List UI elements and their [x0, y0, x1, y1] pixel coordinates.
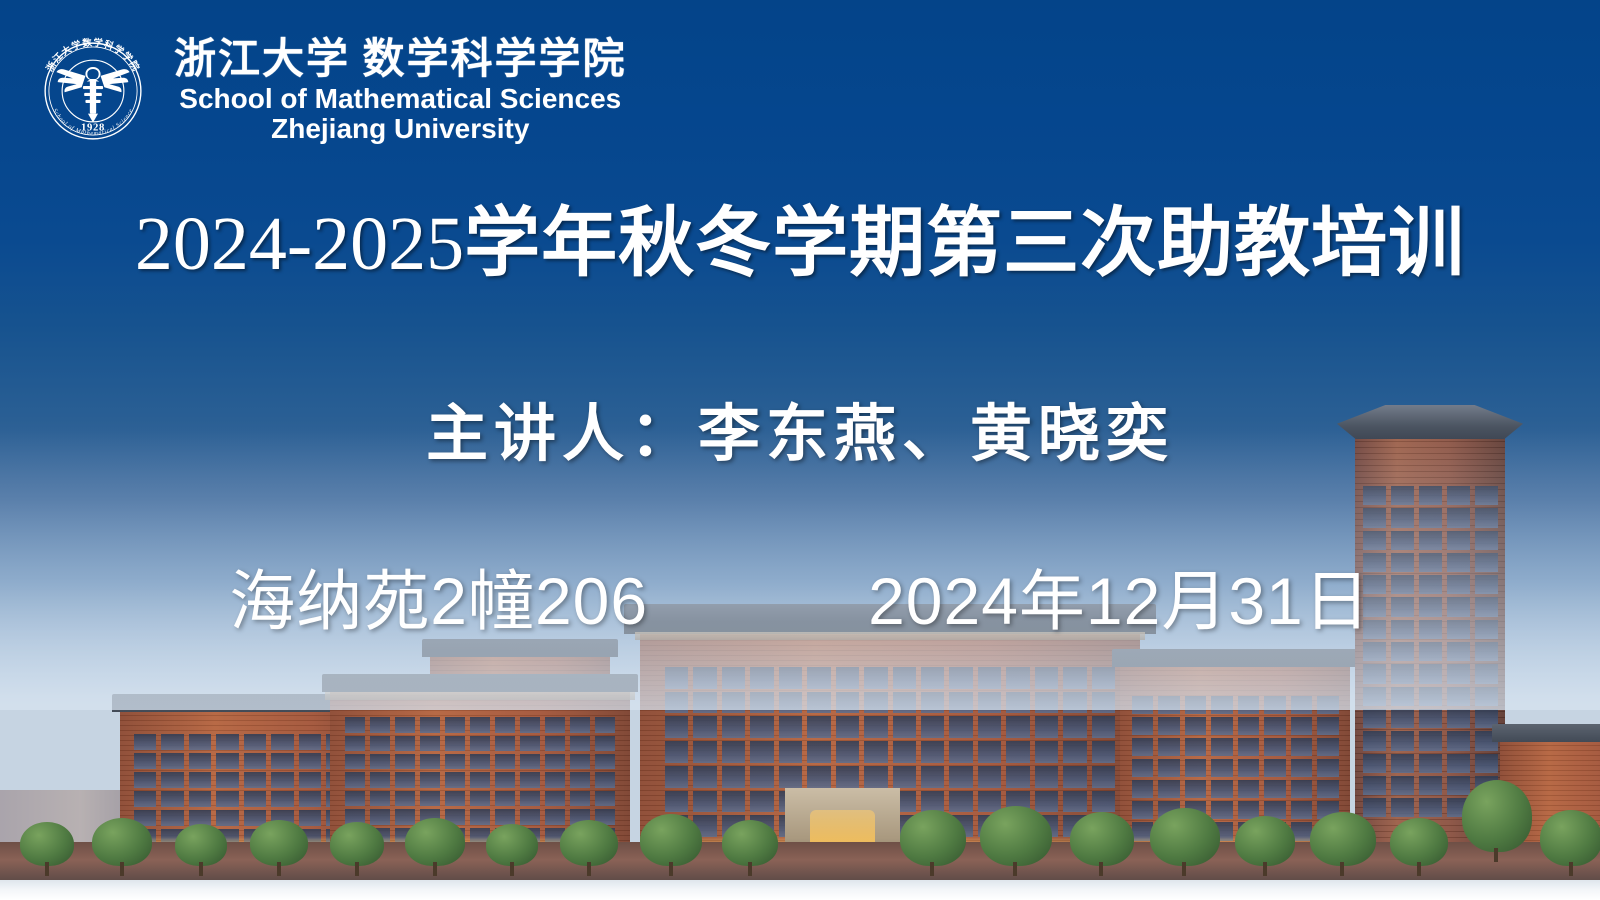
road [0, 880, 1600, 900]
logo-name-cn: 浙江大学 数学科学学院 [174, 39, 627, 82]
tree [1310, 812, 1376, 866]
school-logo: 浙江大学数学科学学院 School of Mathematical Scienc… [30, 28, 627, 154]
speaker-line: 主讲人：李东燕、黄晓奕 [0, 383, 1600, 473]
poster-canvas: 浙江大学数学科学学院 School of Mathematical Scienc… [0, 0, 1600, 900]
tree [1390, 818, 1448, 866]
page-title: 2024-2025学年秋冬学期第三次助教培训 [0, 206, 1600, 282]
tree [640, 814, 702, 866]
event-details-row: 海纳苑2幢206 2024年12月31日 [0, 548, 1600, 644]
tree [900, 810, 966, 866]
tree [1070, 812, 1134, 866]
window-grid [1363, 486, 1498, 818]
svg-text:1928: 1928 [81, 122, 105, 134]
tree [486, 824, 538, 866]
event-date: 2024年12月31日 [868, 548, 1371, 644]
cornice [325, 692, 635, 700]
tree [92, 818, 152, 866]
roof [322, 674, 638, 692]
logo-wordmark: 浙江大学 数学科学学院 School of Mathematical Scien… [174, 39, 627, 144]
tree [722, 820, 778, 866]
tree [980, 806, 1052, 866]
zju-school-seal-icon: 浙江大学数学科学学院 School of Mathematical Scienc… [30, 28, 156, 154]
tree [405, 818, 465, 866]
tree [560, 820, 618, 866]
event-venue: 海纳苑2幢206 [229, 548, 648, 644]
logo-name-en-line2: Zhejiang University [271, 115, 529, 144]
title-years: 2024-2025 [135, 202, 464, 286]
tree [20, 822, 74, 866]
logo-name-en-line1: School of Mathematical Sciences [179, 85, 621, 114]
tree [175, 824, 227, 866]
tree [1462, 780, 1532, 852]
roof [1492, 724, 1600, 742]
tree [250, 820, 308, 866]
tree [1540, 810, 1600, 866]
tree [1150, 808, 1220, 866]
tree [1235, 816, 1295, 866]
roof [1112, 649, 1358, 667]
title-text-cn: 学年秋冬学期第三次助教培训 [464, 202, 1465, 286]
tree [330, 822, 384, 866]
